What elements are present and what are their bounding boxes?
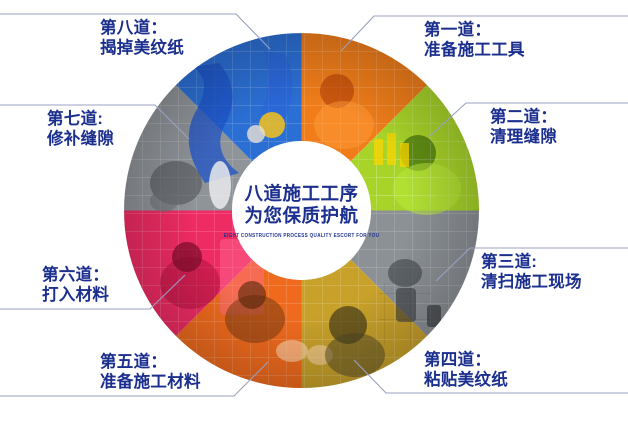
step-3-title: 第三道: [481, 252, 582, 272]
hub-english-tagline: EIGHT CONSTRUCTION PROCESS QUALITY ESCOR… [224, 232, 380, 238]
step-6-desc: 打入材料 [42, 285, 109, 305]
step-label-2: 第二道： 清理缝隙 [490, 107, 557, 147]
step-4-desc: 粘贴美纹纸 [424, 370, 508, 390]
step-label-1: 第一道： 准备施工工具 [424, 20, 525, 60]
step-8-title: 第八道： [100, 18, 184, 38]
hub-line-2: 为您保质护航 [244, 205, 358, 227]
step-label-5: 第五道： 准备施工材料 [100, 352, 201, 392]
step-label-4: 第四道： 粘贴美纹纸 [424, 350, 508, 390]
step-label-3: 第三道: 清扫施工现场 [481, 252, 582, 292]
step-7-title: 第七道: [47, 109, 114, 129]
step-8-desc: 揭掉美纹纸 [100, 38, 184, 58]
hub-line-1: 八道施工工序 [244, 183, 358, 205]
step-4-title: 第四道： [424, 350, 508, 370]
step-3-desc: 清扫施工现场 [481, 272, 582, 292]
step-1-title: 第一道： [424, 20, 525, 40]
step-7-desc: 修补缝隙 [47, 129, 114, 149]
step-label-7: 第七道: 修补缝隙 [47, 109, 114, 149]
step-label-8: 第八道： 揭掉美纹纸 [100, 18, 184, 58]
poster-canvas: 八道施工工序 为您保质护航 EIGHT CONSTRUCTION PROCESS… [0, 0, 628, 427]
step-2-title: 第二道： [490, 107, 557, 127]
center-hub: 八道施工工序 为您保质护航 EIGHT CONSTRUCTION PROCESS… [232, 141, 371, 280]
step-label-6: 第六道： 打入材料 [42, 265, 109, 305]
step-5-title: 第五道： [100, 352, 201, 372]
step-1-desc: 准备施工工具 [424, 40, 525, 60]
step-6-title: 第六道： [42, 265, 109, 285]
step-2-desc: 清理缝隙 [490, 127, 557, 147]
step-5-desc: 准备施工材料 [100, 372, 201, 392]
